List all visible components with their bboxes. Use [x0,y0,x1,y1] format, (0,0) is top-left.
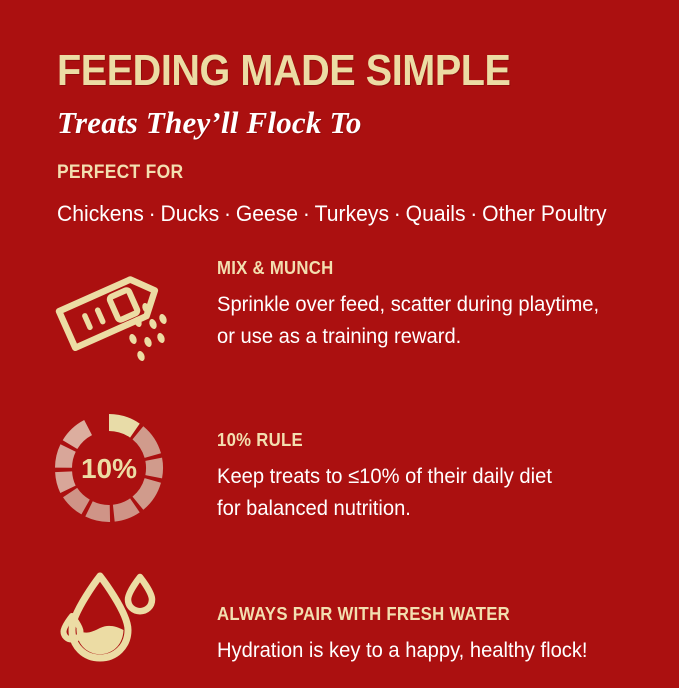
ten-percent-donut-icon: 10% [55,414,163,522]
feature-body: Sprinkle over feed, scatter during playt… [217,289,637,353]
page-subtitle: Treats They’ll Flock To [57,106,657,140]
header: FEEDING MADE SIMPLE Treats They’ll Flock… [57,48,657,140]
sprinkle-packet-icon [49,264,169,369]
species-separator: · [219,201,236,226]
infographic-page: FEEDING MADE SIMPLE Treats They’ll Flock… [0,0,679,679]
feature-text-cell: 10% RULE Keep treats to ≤10% of their da… [217,406,679,525]
species-item: Ducks [161,201,220,226]
water-droplet-icon [54,560,164,670]
species-separator: · [144,201,161,226]
species-separator: · [466,201,483,226]
donut-center-label: 10% [80,453,136,484]
feature-text-cell: MIX & MUNCH Sprinkle over feed, scatter … [217,258,679,353]
species-item: Turkeys [315,201,389,226]
species-item: Geese [236,201,298,226]
feature-title: MIX & MUNCH [217,258,624,279]
feature-icon-cell: 10% [0,406,217,522]
feature-list: MIX & MUNCH Sprinkle over feed, scatter … [0,258,679,688]
feature-title: 10% RULE [217,430,624,451]
species-item: Other Poultry [482,201,606,226]
feature-text-cell: ALWAYS PAIR WITH FRESH WATER Hydration i… [217,558,679,667]
species-list: Chickens·Ducks·Geese·Turkeys·Quails·Othe… [57,201,643,227]
feature-row-ten-percent-rule: 10% 10% RULE Keep treats to ≤10% of thei… [0,406,679,536]
feature-title: ALWAYS PAIR WITH FRESH WATER [217,604,624,625]
perfect-for-section: PERFECT FOR Chickens·Ducks·Geese·Turkeys… [57,162,667,227]
feature-icon-cell [0,258,217,369]
feature-body-line: Sprinkle over feed, scatter during playt… [217,289,637,321]
feature-body-line: for balanced nutrition. [217,493,637,525]
feature-icon-cell [0,558,217,670]
feature-body: Hydration is key to a happy, healthy flo… [217,635,637,667]
species-item: Quails [406,201,466,226]
feature-body-line: Keep treats to ≤10% of their daily diet [217,461,637,493]
feature-body-line: Hydration is key to a happy, healthy flo… [217,635,637,667]
feature-body: Keep treats to ≤10% of their daily diet … [217,461,637,525]
page-title: FEEDING MADE SIMPLE [57,48,597,94]
species-separator: · [389,201,406,226]
species-item: Chickens [57,201,144,226]
feature-body-line: or use as a training reward. [217,321,637,353]
perfect-for-label: PERFECT FOR [57,162,618,184]
feature-row-mix-and-munch: MIX & MUNCH Sprinkle over feed, scatter … [0,258,679,388]
species-separator: · [298,201,315,226]
feature-row-fresh-water: ALWAYS PAIR WITH FRESH WATER Hydration i… [0,558,679,688]
